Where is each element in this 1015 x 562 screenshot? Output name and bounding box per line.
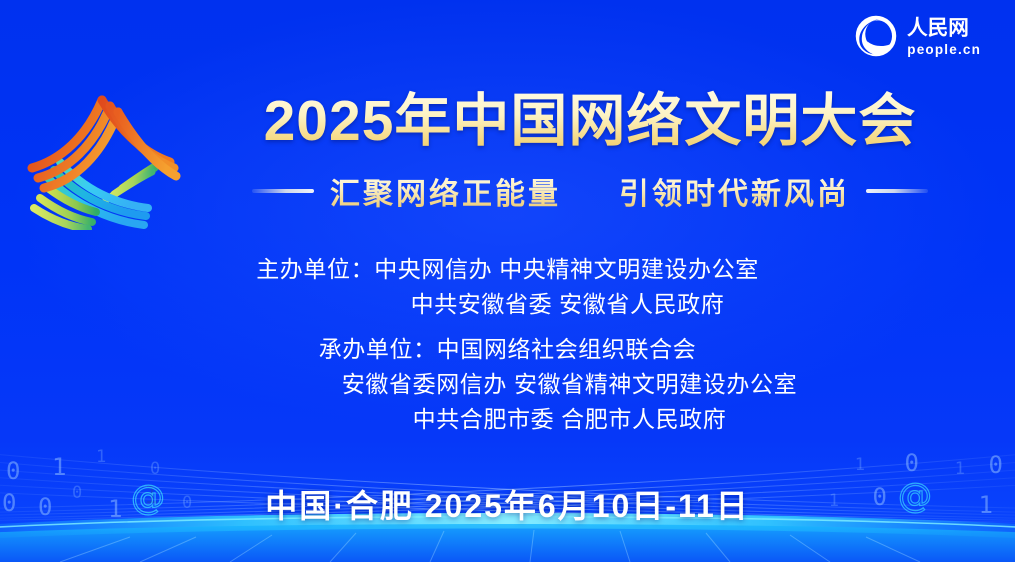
host-line-1: 主办单位：中央网信办 中央精神文明建设办公室 [0,252,1015,287]
page-title: 2025年中国网络文明大会 [190,88,990,155]
binary-digit: 1 [855,455,865,475]
subtitle-left: 汇聚网络正能量 [330,169,561,213]
binary-digit: 0 [150,459,160,479]
host-organizers: 主办单位：中央网信办 中央精神文明建设办公室 中共安徽省委 安徽省人民政府 [0,252,1015,322]
binary-digit: 0 [905,449,919,477]
people-globe-icon [854,14,898,58]
subtitle-right: 引领时代新风尚 [619,169,850,213]
rule-right-decoration [866,189,928,193]
coorganizer-line-1: 承办单位：中国网络社会组织联合会 [0,332,1015,367]
event-location-date: 中国·合肥 2025年6月10日-11日 [0,481,1015,527]
binary-digit: 1 [96,447,106,467]
organizers-block: 主办单位：中央网信办 中央精神文明建设办公室 中共安徽省委 安徽省人民政府 承办… [0,252,1015,447]
conference-poster: 0 1 1 0 0 0 0 1 1 0 1 0 1 0 1 0 1 @ @ [0,0,1015,562]
host-line-2: 中共安徽省委 安徽省人民政府 [0,287,1015,322]
people-cn-logo[interactable]: 人民网 people.cn [854,14,1001,58]
headline-block: 2025年中国网络文明大会 汇聚网络正能量 引领时代新风尚 [190,88,990,213]
conference-emblem-icon [18,82,183,230]
binary-digit: 0 [989,451,1003,479]
coorganizer-line-3: 中共合肥市委 合肥市人民政府 [0,402,1015,437]
binary-digit: 1 [52,453,66,481]
subtitle-row: 汇聚网络正能量 引领时代新风尚 [190,169,990,213]
renminwang-characters-icon: 人民网 [907,15,1001,40]
brand-name-latin: people.cn [907,43,981,57]
coorganizer-line-2: 安徽省委网信办 安徽省精神文明建设办公室 [0,367,1015,402]
binary-digit: 1 [955,459,965,479]
brand-name-cn: 人民网 [907,16,969,40]
coorganizers: 承办单位：中国网络社会组织联合会 安徽省委网信办 安徽省精神文明建设办公室 中共… [0,332,1015,437]
rule-left-decoration [252,189,314,193]
brand-wordmark: 人民网 people.cn [907,15,1001,57]
